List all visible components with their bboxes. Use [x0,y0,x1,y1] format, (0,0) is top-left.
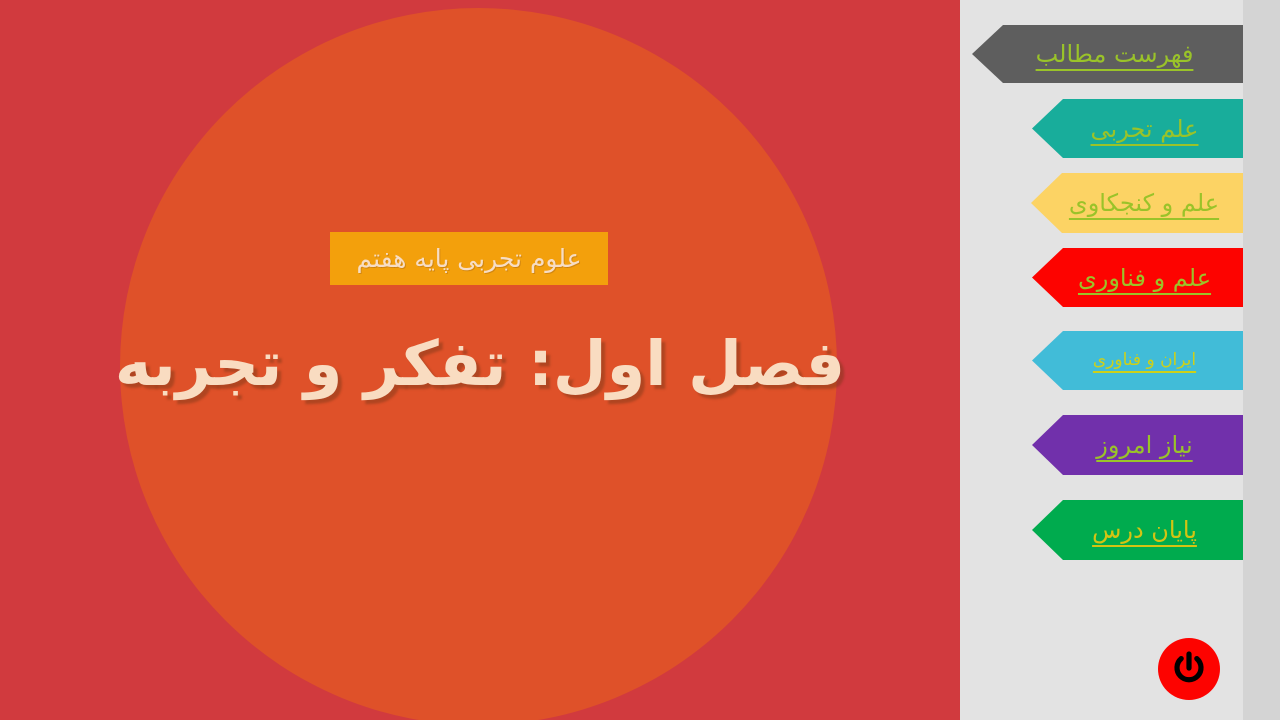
nav-ribbon-elm-fanavari[interactable]: علم و فناوری [1032,248,1243,307]
nav-ribbon-label: نیاز امروز [1082,433,1192,457]
nav-ribbon-iran-fanavari[interactable]: ایران و فناوری [1032,331,1243,390]
nav-ribbon-payan-dars[interactable]: پایان درس [1032,500,1243,560]
nav-ribbon-label: علم تجربی [1077,117,1199,141]
power-icon [1170,650,1208,688]
nav-ribbon-niaz-emrooz[interactable]: نیاز امروز [1032,415,1243,475]
slide-canvas: علوم تجربی پایه هفتم فصل اول: تفکر و تجر… [0,0,960,720]
nav-ribbon-label: علم و فناوری [1064,266,1211,290]
nav-ribbon-label: پایان درس [1078,518,1197,542]
nav-ribbon-label: علم و کنجکاوی [1055,191,1219,215]
nav-ribbon-label: ایران و فناوری [1079,352,1196,369]
nav-ribbon-elm-tajrobi[interactable]: علم تجربی [1032,99,1243,158]
power-button[interactable] [1158,638,1220,700]
course-badge: علوم تجربی پایه هفتم [330,232,608,285]
slide-viewer: علوم تجربی پایه هفتم فصل اول: تفکر و تجر… [0,0,1280,720]
nav-ribbon-label: فهرست مطالب [1022,42,1194,66]
nav-ribbon-fehrest-matalib[interactable]: فهرست مطالب [972,25,1243,83]
course-badge-label: علوم تجربی پایه هفتم [356,246,581,271]
nav-ribbon-elm-konjkavi[interactable]: علم و کنجکاوی [1031,173,1243,233]
slide-title: فصل اول: تفکر و تجربه [0,325,960,403]
